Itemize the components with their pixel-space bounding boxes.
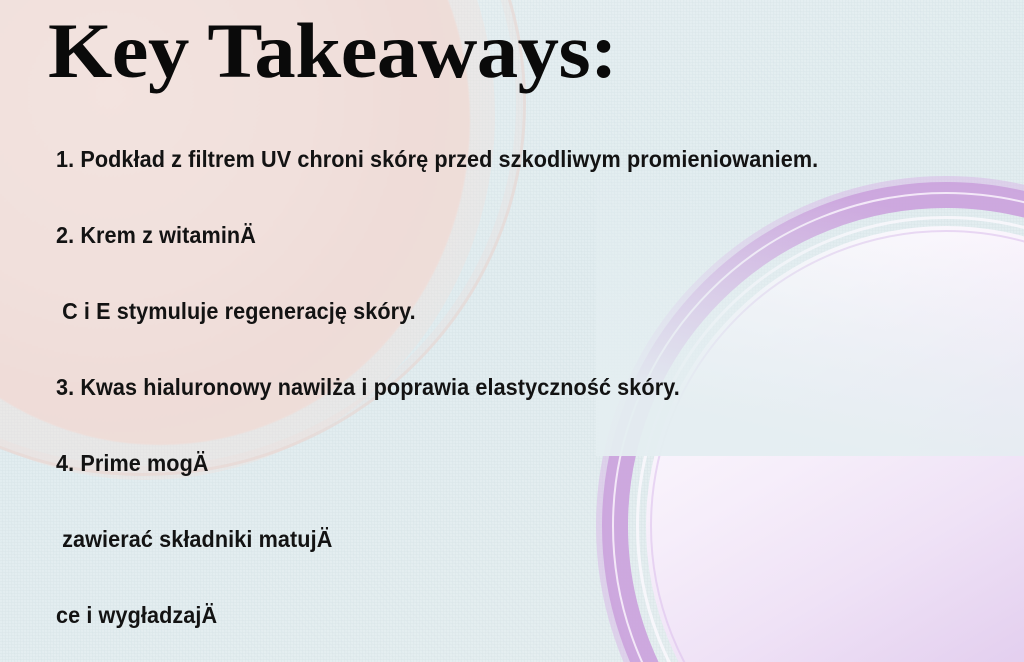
page-title: Key Takeaways: <box>48 12 617 90</box>
content-layer: Key Takeaways: 1. Podkład z filtrem UV c… <box>0 0 1024 662</box>
takeaway-line: 4. Prime mogÄ <box>56 452 902 475</box>
takeaways-list: 1. Podkład z filtrem UV chroni skórę prz… <box>56 148 956 627</box>
takeaway-line: 3. Kwas hialuronowy nawilża i poprawia e… <box>56 376 902 399</box>
takeaway-line: 1. Podkład z filtrem UV chroni skórę prz… <box>56 148 902 171</box>
takeaway-line: ce i wygładzajÄ <box>56 604 902 627</box>
slide-canvas: Key Takeaways: 1. Podkład z filtrem UV c… <box>0 0 1024 662</box>
takeaway-line: zawierać składniki matujÄ <box>56 528 902 551</box>
takeaway-line: C i E stymuluje regenerację skóry. <box>56 300 902 323</box>
takeaway-line: 2. Krem z witaminÄ <box>56 224 902 247</box>
